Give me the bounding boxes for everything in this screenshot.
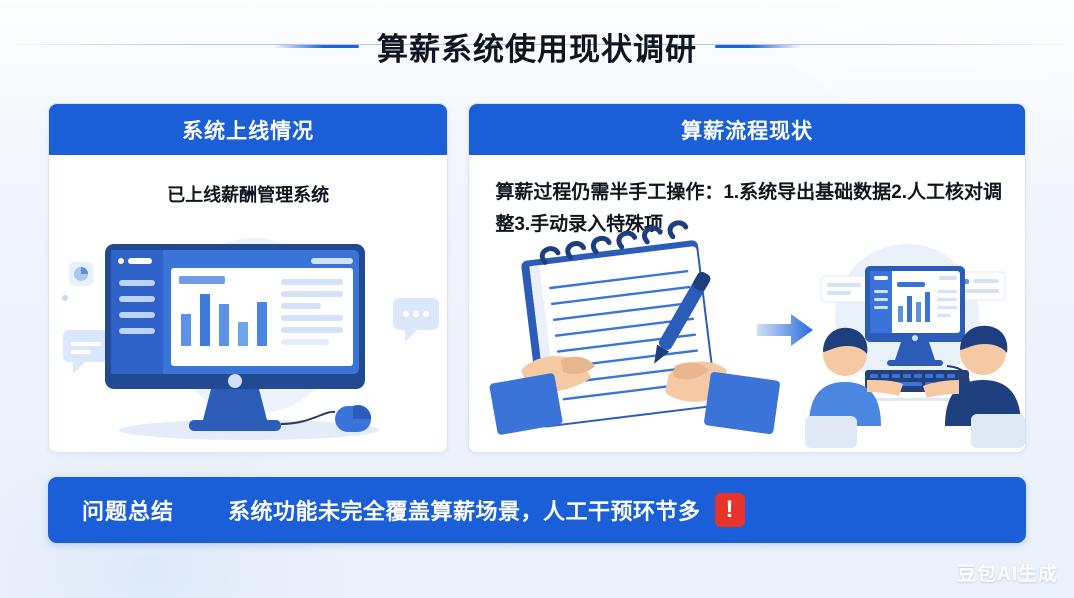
desktop-monitor-dashboard-icon — [49, 234, 447, 452]
title-rule-left-icon — [273, 45, 359, 48]
card-lead-system-status: 已上线薪酬管理系统 — [49, 155, 447, 209]
cards-container: 系统上线情况 已上线薪酬管理系统 — [48, 103, 1026, 453]
summary-label: 问题总结 — [82, 494, 174, 526]
title-rule-right-icon — [715, 45, 801, 48]
summary-text: 系统功能未完全覆盖算薪场景，人工干预环节多 — [228, 494, 701, 526]
notebook-writing-group — [489, 221, 780, 436]
manual-to-computer-workflow-icon — [469, 220, 1025, 452]
summary-bar: 问题总结 系统功能未完全覆盖算薪场景，人工干预环节多 ! — [48, 477, 1026, 543]
alert-exclamation-icon: ! — [715, 493, 745, 527]
slide-canvas: 算薪系统使用现状调研 系统上线情况 已上线薪酬管理系统 — [0, 0, 1074, 598]
watermark: 豆包AI生成 — [957, 559, 1058, 586]
card-header-system-status: 系统上线情况 — [49, 104, 447, 155]
card-body-payroll-process: 算薪过程仍需半手工操作：1.系统导出基础数据2.人工核对调整3.手动录入特殊项 — [469, 155, 1025, 452]
card-payroll-process: 算薪流程现状 算薪过程仍需半手工操作：1.系统导出基础数据2.人工核对调整3.手… — [468, 103, 1026, 453]
card-body-system-status: 已上线薪酬管理系统 — [49, 155, 447, 452]
card-system-status: 系统上线情况 已上线薪酬管理系统 — [48, 103, 448, 453]
team-at-computer-group — [805, 244, 1025, 448]
card-header-payroll-process: 算薪流程现状 — [469, 104, 1025, 155]
page-title: 算薪系统使用现状调研 — [377, 24, 697, 69]
slide-title-row: 算薪系统使用现状调研 — [0, 22, 1074, 70]
arrow-right-icon — [757, 314, 813, 346]
